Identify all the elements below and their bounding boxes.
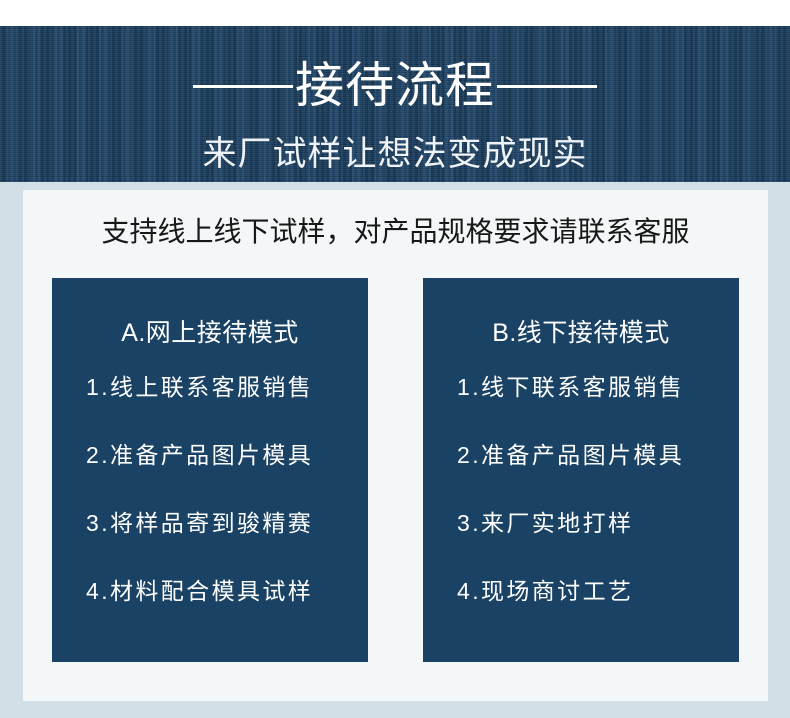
banner-subtitle: 来厂试样让想法变成现实 <box>0 132 790 176</box>
mode-card-step: 3.来厂实地打样 <box>457 508 705 538</box>
promo-page: 接待流程 来厂试样让想法变成现实 支持线上线下试样，对产品规格要求请联系客服 A… <box>0 0 790 718</box>
title-rule-left-icon <box>193 85 293 88</box>
content-panel: 支持线上线下试样，对产品规格要求请联系客服 A.网上接待模式 1.线上联系客服销… <box>23 190 768 701</box>
mode-card-step: 3.将样品寄到骏精赛 <box>86 508 334 538</box>
mode-card-title: B.线下接待模式 <box>492 316 670 350</box>
mode-card-steps: 1.线上联系客服销售 2.准备产品图片模具 3.将样品寄到骏精赛 4.材料配合模… <box>52 372 368 662</box>
panel-heading: 支持线上线下试样，对产品规格要求请联系客服 <box>23 212 768 252</box>
mode-card-step: 2.准备产品图片模具 <box>457 440 705 470</box>
header-banner: 接待流程 来厂试样让想法变成现实 <box>0 26 790 182</box>
mode-card-offline: B.线下接待模式 1.线下联系客服销售 2.准备产品图片模具 3.来厂实地打样 … <box>423 278 739 662</box>
mode-card-online: A.网上接待模式 1.线上联系客服销售 2.准备产品图片模具 3.将样品寄到骏精… <box>52 278 368 662</box>
mode-card-step: 2.准备产品图片模具 <box>86 440 334 470</box>
title-rule-right-icon <box>497 85 597 88</box>
banner-content: 接待流程 来厂试样让想法变成现实 <box>0 26 790 182</box>
banner-title-row: 接待流程 <box>0 55 790 117</box>
mode-card-step: 1.线上联系客服销售 <box>86 372 334 402</box>
banner-title: 接待流程 <box>295 57 495 115</box>
lower-section: 支持线上线下试样，对产品规格要求请联系客服 A.网上接待模式 1.线上联系客服销… <box>0 182 790 718</box>
mode-card-title: A.网上接待模式 <box>121 316 299 350</box>
mode-card-list: A.网上接待模式 1.线上联系客服销售 2.准备产品图片模具 3.将样品寄到骏精… <box>52 278 739 662</box>
mode-card-step: 4.现场商讨工艺 <box>457 576 705 606</box>
mode-card-step: 1.线下联系客服销售 <box>457 372 705 402</box>
mode-card-step: 4.材料配合模具试样 <box>86 576 334 606</box>
mode-card-steps: 1.线下联系客服销售 2.准备产品图片模具 3.来厂实地打样 4.现场商讨工艺 <box>423 372 739 662</box>
